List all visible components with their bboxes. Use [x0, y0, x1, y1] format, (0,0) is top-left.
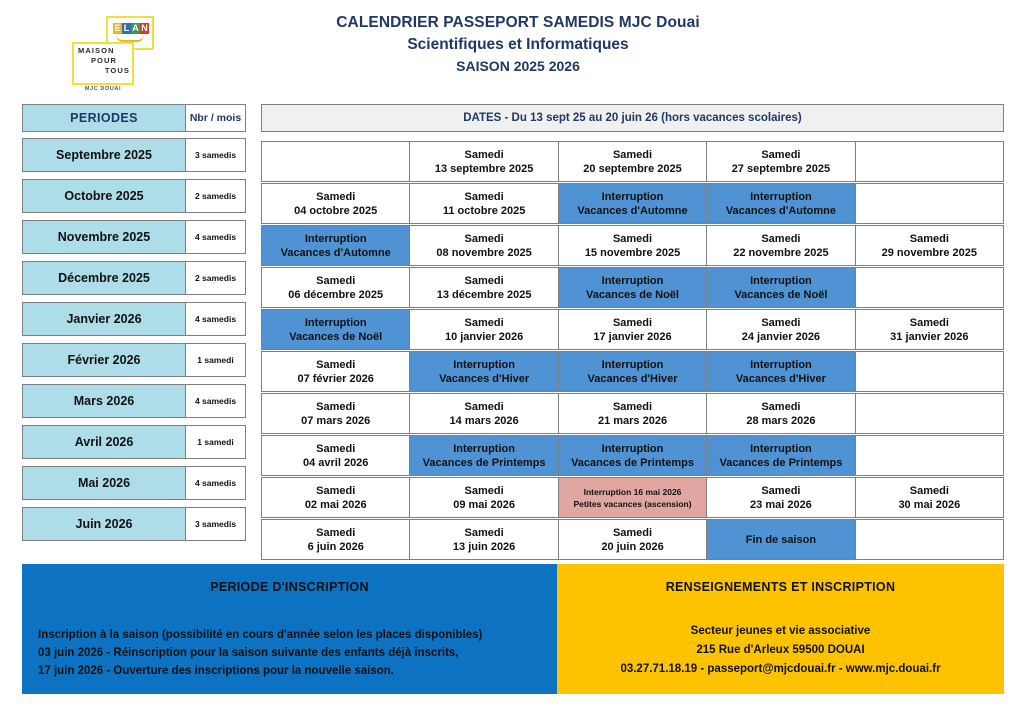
date-cell[interactable]: Samedi31 janvier 2026 [855, 309, 1004, 350]
information-line-1: Secteur jeunes et vie associative [571, 622, 990, 641]
periods-header-name: PERIODES [22, 104, 186, 132]
period-row: Mars 20264 samedis [22, 384, 246, 418]
title-line-1: CALENDRIER PASSEPORT SAMEDIS MJC Douai [262, 12, 774, 34]
cell-line-1: Samedi [761, 400, 800, 414]
date-cell[interactable]: Samedi10 janvier 2026 [409, 309, 557, 350]
period-month-label: Mars 2026 [22, 384, 186, 418]
logo-letter-n: N [140, 23, 149, 34]
bottom-panels: PERIODE D'INSCRIPTION Inscription à la s… [22, 564, 1004, 694]
cell-line-2: 13 décembre 2025 [437, 288, 532, 302]
period-count-label: 3 samedis [186, 507, 246, 541]
cell-line-1: Interruption 16 mai 2026 [584, 486, 682, 498]
period-month-label: Décembre 2025 [22, 261, 186, 295]
date-cell[interactable]: Samedi21 mars 2026 [558, 393, 706, 434]
inscription-line-3: 17 juin 2026 - Ouverture des inscription… [38, 662, 543, 680]
inscription-period-body: Inscription à la saison (possibilité en … [36, 626, 543, 680]
cell-line-1: Fin de saison [746, 533, 816, 547]
logo-letter-a: A [131, 23, 140, 34]
cell-line-2: Vacances d'Automne [281, 246, 391, 260]
calendar-page: ELAN MAISON POUR TOUS MJC DOUAI CALENDRI… [0, 0, 1024, 724]
logo-subtitle: MJC DOUAI [72, 86, 134, 92]
cell-line-2: Vacances de Noël [289, 330, 382, 344]
period-count-label: 4 samedis [186, 220, 246, 254]
empty-cell [855, 519, 1004, 560]
interruption-cell[interactable]: InterruptionVacances de Noël [558, 267, 706, 308]
cell-line-1: Samedi [465, 232, 504, 246]
cell-line-1: Interruption [453, 442, 515, 456]
cell-line-2: Vacances de Noël [734, 288, 827, 302]
dates-row: Samedi02 mai 2026Samedi09 mai 2026Interr… [261, 477, 1004, 518]
cell-line-2: 6 juin 2026 [308, 540, 364, 554]
cell-line-1: Samedi [613, 148, 652, 162]
cell-line-2: 30 mai 2026 [898, 498, 960, 512]
cell-line-2: 11 octobre 2025 [443, 204, 526, 218]
information-body: Secteur jeunes et vie associative 215 Ru… [571, 622, 990, 679]
cell-line-1: Samedi [316, 274, 355, 288]
cell-line-2: 21 mars 2026 [598, 414, 667, 428]
period-row: Mai 20264 samedis [22, 466, 246, 500]
cell-line-1: Interruption [602, 274, 664, 288]
empty-cell [855, 351, 1004, 392]
date-cell[interactable]: Samedi07 février 2026 [261, 351, 409, 392]
interruption-cell[interactable]: InterruptionVacances d'Automne [706, 183, 854, 224]
date-cell[interactable]: Samedi13 septembre 2025 [409, 141, 557, 182]
dates-row: Samedi04 octobre 2025Samedi11 octobre 20… [261, 183, 1004, 224]
information-panel: RENSEIGNEMENTS ET INSCRIPTION Secteur je… [557, 564, 1004, 694]
logo-line-tous: TOUS [76, 66, 132, 76]
empty-cell [855, 267, 1004, 308]
dates-table-header: DATES - Du 13 sept 25 au 20 juin 26 (hor… [261, 104, 1004, 132]
cell-line-1: Samedi [316, 484, 355, 498]
cell-line-1: Samedi [761, 148, 800, 162]
dates-row: InterruptionVacances d'AutomneSamedi08 n… [261, 225, 1004, 266]
dates-table-body: Samedi13 septembre 2025Samedi20 septembr… [261, 141, 1004, 560]
dates-row: InterruptionVacances de NoëlSamedi10 jan… [261, 309, 1004, 350]
dates-row: Samedi04 avril 2026InterruptionVacances … [261, 435, 1004, 476]
period-row: Décembre 20252 samedis [22, 261, 246, 295]
date-cell[interactable]: Samedi11 octobre 2025 [409, 183, 557, 224]
cell-line-2: Vacances d'Automne [577, 204, 687, 218]
cell-line-1: Samedi [613, 316, 652, 330]
interruption-cell[interactable]: InterruptionVacances de Printemps [706, 435, 854, 476]
period-row: Juin 20263 samedis [22, 507, 246, 541]
cell-line-2: 06 décembre 2025 [288, 288, 383, 302]
date-cell[interactable]: Samedi09 mai 2026 [409, 477, 557, 518]
period-month-label: Avril 2026 [22, 425, 186, 459]
cell-line-2: 04 avril 2026 [303, 456, 368, 470]
cell-line-2: 02 mai 2026 [305, 498, 367, 512]
logo-smile-icon [116, 35, 144, 42]
cell-line-1: Samedi [761, 316, 800, 330]
date-cell[interactable]: Samedi30 mai 2026 [855, 477, 1004, 518]
cell-line-1: Interruption [602, 190, 664, 204]
cell-line-2: 20 juin 2026 [601, 540, 663, 554]
inscription-line-1: Inscription à la saison (possibilité en … [38, 626, 543, 644]
cell-line-2: 31 janvier 2026 [890, 330, 968, 344]
date-cell[interactable]: Samedi04 octobre 2025 [261, 183, 409, 224]
date-cell[interactable]: Samedi22 novembre 2025 [706, 225, 854, 266]
cell-line-2: 07 février 2026 [297, 372, 373, 386]
cell-line-1: Samedi [761, 232, 800, 246]
interruption-cell[interactable]: InterruptionVacances d'Automne [261, 225, 409, 266]
periods-header-count: Nbr / mois [186, 104, 246, 132]
dates-row: Samedi13 septembre 2025Samedi20 septembr… [261, 141, 1004, 182]
period-month-label: Janvier 2026 [22, 302, 186, 336]
logo-letter-e: E [113, 23, 122, 34]
cell-line-1: Samedi [465, 526, 504, 540]
end-of-season-cell[interactable]: Fin de saison [706, 519, 854, 560]
interruption-cell[interactable]: InterruptionVacances d'Hiver [558, 351, 706, 392]
logo-line-pour: POUR [76, 56, 132, 66]
cell-line-1: Interruption [602, 358, 664, 372]
information-contact[interactable]: 03.27.71.18.19 - passeport@mjcdouai.fr -… [571, 660, 990, 679]
cell-line-1: Interruption [305, 232, 367, 246]
cell-line-1: Interruption [750, 442, 812, 456]
period-month-label: Mai 2026 [22, 466, 186, 500]
date-cell[interactable]: Samedi27 septembre 2025 [706, 141, 854, 182]
cell-line-2: Petites vacances (ascension) [573, 498, 691, 510]
inscription-period-title: PERIODE D'INSCRIPTION [36, 580, 543, 594]
cell-line-1: Samedi [316, 358, 355, 372]
logo-maison-pour-tous: MAISON POUR TOUS [76, 46, 132, 76]
date-cell[interactable]: Samedi23 mai 2026 [706, 477, 854, 518]
date-cell[interactable]: Samedi06 décembre 2025 [261, 267, 409, 308]
holiday-cell[interactable]: Interruption 16 mai 2026Petites vacances… [558, 477, 706, 518]
periods-table-header: PERIODES Nbr / mois [22, 104, 246, 132]
cell-line-1: Interruption [453, 358, 515, 372]
date-cell[interactable]: Samedi29 novembre 2025 [855, 225, 1004, 266]
period-row: Octobre 20252 samedis [22, 179, 246, 213]
period-count-label: 4 samedis [186, 384, 246, 418]
date-cell[interactable]: Samedi13 décembre 2025 [409, 267, 557, 308]
cell-line-1: Samedi [613, 526, 652, 540]
date-cell[interactable]: Samedi04 avril 2026 [261, 435, 409, 476]
dates-table: DATES - Du 13 sept 25 au 20 juin 26 (hor… [261, 104, 1004, 561]
period-month-label: Février 2026 [22, 343, 186, 377]
empty-cell [855, 393, 1004, 434]
period-row: Janvier 20264 samedis [22, 302, 246, 336]
date-cell[interactable]: Samedi13 juin 2026 [409, 519, 557, 560]
cell-line-2: 15 novembre 2025 [585, 246, 680, 260]
period-count-label: 1 samedi [186, 425, 246, 459]
cell-line-2: 22 novembre 2025 [733, 246, 828, 260]
date-cell[interactable]: Samedi17 janvier 2026 [558, 309, 706, 350]
cell-line-1: Samedi [910, 232, 949, 246]
periods-table: PERIODES Nbr / mois Septembre 20253 same… [22, 104, 246, 548]
periods-table-body: Septembre 20253 samedisOctobre 20252 sam… [22, 138, 246, 541]
interruption-cell[interactable]: InterruptionVacances de Noël [706, 267, 854, 308]
interruption-cell[interactable]: InterruptionVacances d'Hiver [706, 351, 854, 392]
empty-cell [855, 183, 1004, 224]
inscription-period-panel: PERIODE D'INSCRIPTION Inscription à la s… [22, 564, 557, 694]
period-row: Février 20261 samedi [22, 343, 246, 377]
dates-row: Samedi6 juin 2026Samedi13 juin 2026Samed… [261, 519, 1004, 560]
cell-line-2: Vacances d'Hiver [736, 372, 826, 386]
cell-line-1: Samedi [910, 316, 949, 330]
cell-line-1: Interruption [602, 442, 664, 456]
cell-line-1: Samedi [613, 400, 652, 414]
interruption-cell[interactable]: InterruptionVacances de Noël [261, 309, 409, 350]
period-count-label: 2 samedis [186, 261, 246, 295]
date-cell[interactable]: Samedi14 mars 2026 [409, 393, 557, 434]
interruption-cell[interactable]: InterruptionVacances d'Hiver [409, 351, 557, 392]
dates-row: Samedi07 février 2026InterruptionVacance… [261, 351, 1004, 392]
cell-line-2: 04 octobre 2025 [294, 204, 377, 218]
interruption-cell[interactable]: InterruptionVacances de Printemps [558, 435, 706, 476]
empty-cell [855, 141, 1004, 182]
cell-line-2: Vacances de Printemps [719, 456, 842, 470]
period-month-label: Octobre 2025 [22, 179, 186, 213]
period-month-label: Septembre 2025 [22, 138, 186, 172]
logo-line-maison: MAISON [76, 46, 132, 56]
information-line-2: 215 Rue d'Arleux 59500 DOUAI [571, 641, 990, 660]
cell-line-1: Samedi [316, 442, 355, 456]
mjc-logo: ELAN MAISON POUR TOUS MJC DOUAI [72, 16, 156, 94]
title-line-2: Scientifiques et Informatiques [262, 34, 774, 56]
logo-letter-l: L [122, 23, 131, 34]
cell-line-2: 29 novembre 2025 [882, 246, 977, 260]
empty-cell [261, 141, 409, 182]
dates-row: Samedi07 mars 2026Samedi14 mars 2026Same… [261, 393, 1004, 434]
date-cell[interactable]: Samedi6 juin 2026 [261, 519, 409, 560]
cell-line-1: Samedi [465, 400, 504, 414]
cell-line-1: Samedi [465, 190, 504, 204]
period-count-label: 1 samedi [186, 343, 246, 377]
cell-line-1: Interruption [750, 358, 812, 372]
date-cell[interactable]: Samedi15 novembre 2025 [558, 225, 706, 266]
date-cell[interactable]: Samedi24 janvier 2026 [706, 309, 854, 350]
date-cell[interactable]: Samedi28 mars 2026 [706, 393, 854, 434]
cell-line-2: 13 juin 2026 [453, 540, 515, 554]
cell-line-2: 23 mai 2026 [750, 498, 812, 512]
cell-line-1: Samedi [316, 190, 355, 204]
date-cell[interactable]: Samedi07 mars 2026 [261, 393, 409, 434]
cell-line-2: Vacances de Printemps [423, 456, 546, 470]
date-cell[interactable]: Samedi08 novembre 2025 [409, 225, 557, 266]
information-title: RENSEIGNEMENTS ET INSCRIPTION [571, 580, 990, 594]
date-cell[interactable]: Samedi20 juin 2026 [558, 519, 706, 560]
cell-line-1: Samedi [465, 484, 504, 498]
period-month-label: Juin 2026 [22, 507, 186, 541]
cell-line-1: Samedi [613, 232, 652, 246]
period-count-label: 4 samedis [186, 302, 246, 336]
period-count-label: 2 samedis [186, 179, 246, 213]
empty-cell [855, 435, 1004, 476]
cell-line-2: 28 mars 2026 [746, 414, 815, 428]
interruption-cell[interactable]: InterruptionVacances de Printemps [409, 435, 557, 476]
date-cell[interactable]: Samedi20 septembre 2025 [558, 141, 706, 182]
page-header: ELAN MAISON POUR TOUS MJC DOUAI CALENDRI… [0, 0, 1024, 96]
page-title: CALENDRIER PASSEPORT SAMEDIS MJC Douai S… [262, 12, 774, 77]
logo-elan-letters: ELAN [112, 21, 150, 35]
cell-line-2: Vacances d'Hiver [587, 372, 677, 386]
cell-line-1: Interruption [750, 190, 812, 204]
period-count-label: 3 samedis [186, 138, 246, 172]
dates-row: Samedi06 décembre 2025Samedi13 décembre … [261, 267, 1004, 308]
cell-line-1: Interruption [305, 316, 367, 330]
cell-line-2: 07 mars 2026 [301, 414, 370, 428]
cell-line-2: 20 septembre 2025 [583, 162, 681, 176]
period-row: Avril 20261 samedi [22, 425, 246, 459]
cell-line-1: Samedi [465, 316, 504, 330]
cell-line-2: 27 septembre 2025 [732, 162, 830, 176]
cell-line-2: Vacances d'Automne [726, 204, 836, 218]
cell-line-2: Vacances d'Hiver [439, 372, 529, 386]
cell-line-2: Vacances de Printemps [571, 456, 694, 470]
title-line-3: SAISON 2025 2026 [262, 56, 774, 77]
period-row: Novembre 20254 samedis [22, 220, 246, 254]
interruption-cell[interactable]: InterruptionVacances d'Automne [558, 183, 706, 224]
cell-line-1: Samedi [761, 484, 800, 498]
period-count-label: 4 samedis [186, 466, 246, 500]
cell-line-1: Interruption [750, 274, 812, 288]
cell-line-1: Samedi [465, 274, 504, 288]
cell-line-1: Samedi [910, 484, 949, 498]
cell-line-2: Vacances de Noël [586, 288, 679, 302]
cell-line-1: Samedi [316, 526, 355, 540]
date-cell[interactable]: Samedi02 mai 2026 [261, 477, 409, 518]
cell-line-1: Samedi [316, 400, 355, 414]
period-row: Septembre 20253 samedis [22, 138, 246, 172]
cell-line-2: 14 mars 2026 [450, 414, 519, 428]
cell-line-2: 17 janvier 2026 [593, 330, 671, 344]
cell-line-1: Samedi [465, 148, 504, 162]
inscription-line-2: 03 juin 2026 - Réinscription pour la sai… [38, 644, 543, 662]
cell-line-2: 10 janvier 2026 [445, 330, 523, 344]
cell-line-2: 08 novembre 2025 [436, 246, 531, 260]
cell-line-2: 13 septembre 2025 [435, 162, 533, 176]
cell-line-2: 09 mai 2026 [453, 498, 515, 512]
period-month-label: Novembre 2025 [22, 220, 186, 254]
cell-line-2: 24 janvier 2026 [742, 330, 820, 344]
